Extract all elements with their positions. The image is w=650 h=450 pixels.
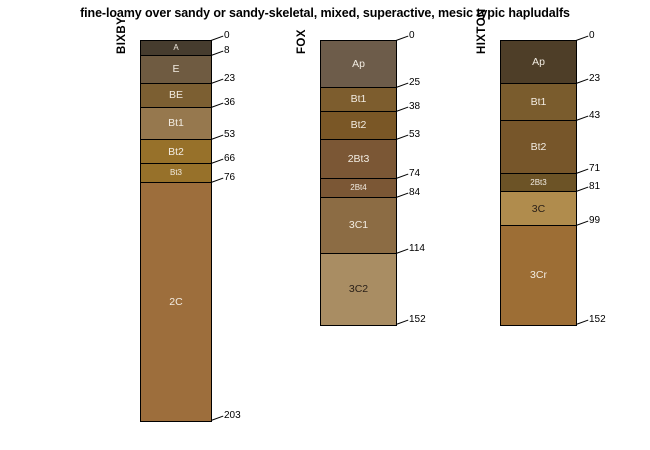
depth-label: 66 [224,154,235,164]
depth-tick [211,36,224,41]
depth-tick [396,249,409,254]
depth-tick [396,135,409,140]
soil-horizon: Ap [321,41,396,88]
depth-tick [576,221,589,226]
depth-tick [396,36,409,41]
depth-label: 74 [409,169,420,179]
soil-horizon: Bt1 [321,88,396,112]
depth-tick [211,51,224,56]
depth-label: 152 [589,315,606,325]
depth-tick [211,159,224,164]
soil-horizon: Bt2 [321,112,396,140]
depth-label: 43 [589,111,600,121]
depth-label: 23 [224,74,235,84]
horizon-label: 2Bt3 [348,154,370,165]
depth-tick [211,178,224,183]
soil-horizon: Bt3 [141,164,211,183]
depth-label: 71 [589,164,600,174]
horizon-label: Bt2 [531,142,547,153]
depth-label: 84 [409,188,420,198]
depth-tick [576,79,589,84]
profile-column: ApBt1Bt22Bt33C3Cr [500,40,577,326]
depth-tick [576,36,589,41]
soil-horizon: 2Bt3 [321,140,396,179]
depth-tick [211,415,224,420]
soil-horizon: 3C1 [321,198,396,254]
depth-label: 99 [589,216,600,226]
soil-horizon: Bt1 [141,108,211,140]
depth-label: 152 [409,315,426,325]
horizon-label: Ap [532,57,545,68]
depth-tick [576,168,589,173]
profile-name-label: HIXTON [476,8,488,54]
horizon-label: 2Bt4 [350,184,366,192]
soil-horizon: Bt2 [501,121,576,173]
depth-tick [396,174,409,179]
horizon-label: 2Bt3 [530,179,546,187]
depth-label: 0 [589,31,595,41]
depth-label: 36 [224,98,235,108]
horizon-label: 2C [169,297,182,308]
figure-title: fine-loamy over sandy or sandy-skeletal,… [0,6,650,20]
depth-tick [211,79,224,84]
depth-tick [396,193,409,198]
soil-horizon: 3C2 [321,254,396,325]
horizon-label: A [173,44,178,52]
horizon-label: 3C [532,204,545,215]
horizon-label: Ap [352,59,365,70]
depth-label: 81 [589,182,600,192]
depth-tick [396,82,409,87]
depth-tick [576,187,589,192]
horizon-label: BE [169,90,183,101]
horizon-label: 3C2 [349,284,368,295]
soil-horizon: Bt1 [501,84,576,121]
horizon-label: 3Cr [530,270,547,281]
depth-label: 114 [409,244,425,254]
horizon-label: 3C1 [349,220,368,231]
horizon-label: Bt3 [170,169,182,177]
soil-horizon: 3Cr [501,226,576,325]
depth-label: 53 [409,130,420,140]
soil-horizon: Bt2 [141,140,211,164]
profile-column: ApBt1Bt22Bt32Bt43C13C2 [320,40,397,326]
profile-name-label: FOX [296,29,308,54]
depth-label: 38 [409,102,420,112]
soil-horizon: 2C [141,183,211,420]
horizon-label: Bt1 [168,118,184,129]
soil-horizon: 2Bt3 [501,174,576,193]
profile-name-label: BIXBY [116,17,128,54]
horizon-label: Bt1 [531,97,547,108]
depth-tick [576,320,589,325]
depth-label: 8 [224,46,230,56]
soil-horizon: BE [141,84,211,108]
depth-label: 0 [224,31,230,41]
depth-label: 25 [409,78,420,88]
depth-label: 0 [409,31,415,41]
depth-label: 53 [224,130,235,140]
depth-label: 23 [589,74,600,84]
soil-horizon: 3C [501,192,576,226]
profile-column: AEBEBt1Bt2Bt32C [140,40,212,422]
horizon-label: Bt2 [168,147,184,158]
depth-tick [396,320,409,325]
depth-tick [576,116,589,121]
depth-label: 76 [224,173,235,183]
soil-horizon: 2Bt4 [321,179,396,198]
soil-profile-figure: fine-loamy over sandy or sandy-skeletal,… [0,0,650,450]
depth-label: 203 [224,411,241,421]
depth-tick [396,107,409,112]
depth-tick [211,103,224,108]
horizon-label: Bt2 [351,120,367,131]
soil-horizon: Ap [501,41,576,84]
depth-tick [211,135,224,140]
soil-horizon: A [141,41,211,56]
soil-horizon: E [141,56,211,84]
horizon-label: Bt1 [351,94,367,105]
horizon-label: E [172,64,179,75]
